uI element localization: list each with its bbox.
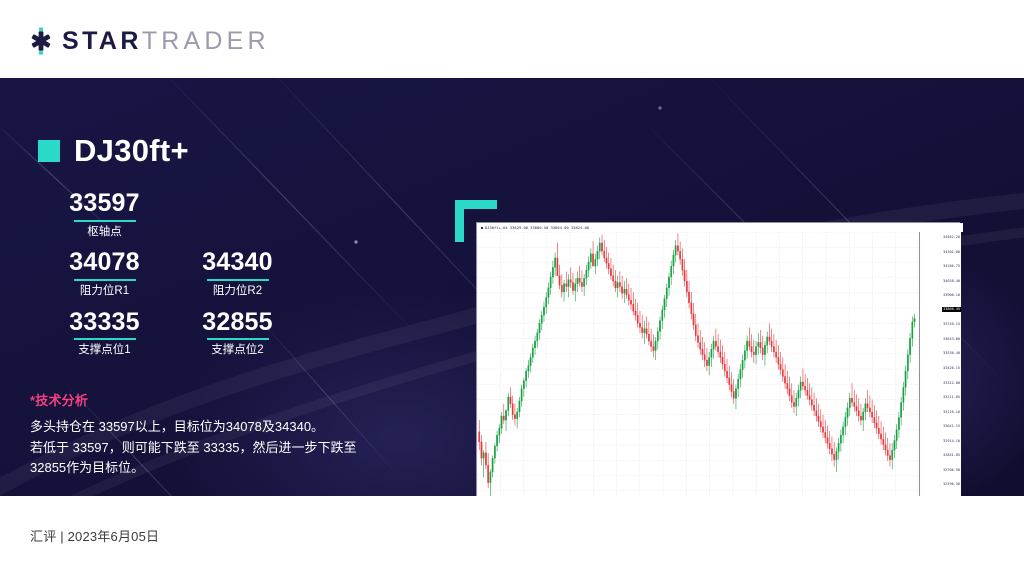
price-chart[interactable]: DJ30ft+,H4 33829.00 33880.50 33804.00 33… [476,222,960,496]
price-tick-label: 33643.80 [943,338,960,342]
analysis-line-3: 32855作为目标位。 [30,458,400,479]
price-tick-label: 33906.10 [943,294,960,298]
chart-price-axis[interactable]: 34462.2034302.0034166.7534038.4033906.10… [919,232,961,496]
analysis-heading: *技术分析 [30,390,400,409]
level-divider [74,338,136,340]
level-resistance-1: 34078 阻力位R1 [38,249,171,298]
analysis-line-2: 若低于 33597，则可能下跌至 33335，然后进一步下跌至 [30,438,400,459]
price-tick-label: 33746.15 [943,323,960,327]
price-tick-label: 34166.75 [943,265,960,269]
technical-analysis-block: *技术分析 多头持仓在 33597以上，目标位为34078及34340。 若低于… [30,390,400,479]
price-tick-label: 32841.85 [943,454,960,458]
level-divider [74,220,136,222]
level-support-1-label: 支撑点位1 [38,344,171,358]
level-support-1: 33335 支撑点位1 [38,309,171,358]
price-tick-label: 34302.00 [943,251,960,255]
level-resistance-1-label: 阻力位R1 [38,285,171,299]
price-tick-label: 33041.15 [943,425,960,429]
analysis-line-1: 多头持仓在 33597以上，目标位为34078及34340。 [30,417,400,438]
price-tick-label: 33536.40 [943,352,960,356]
analysis-body: 多头持仓在 33597以上，目标位为34078及34340。 若低于 33597… [30,417,400,479]
current-price-tag: 33866.45 [942,307,961,312]
level-pivot: 33597 枢轴点 [38,190,171,239]
header-bar: STARTRADER [0,0,1024,78]
level-resistance-1-value: 34078 [38,249,171,276]
price-tick-label: 33312.80 [943,382,960,386]
level-pivot-label: 枢轴点 [38,226,171,240]
level-divider [74,279,136,281]
price-tick-label: 34038.40 [943,280,960,284]
chart-header-quote: DJ30ft+,H4 33829.00 33880.50 33804.00 33… [477,223,963,232]
chart-header-text: DJ30ft+,H4 33829.00 33880.50 33804.00 33… [485,226,589,230]
slide-root: STARTRADER [0,0,1024,576]
instrument-symbol: DJ30ft+ [74,135,189,166]
footer-bar: 汇评 | 2023年6月05日 [0,496,1024,576]
level-pivot-value: 33597 [38,190,171,217]
instrument-title-row: DJ30ft+ [38,135,189,166]
levels-grid: 33597 枢轴点 34078 阻力位R1 34340 阻力位R2 [38,190,338,368]
chart-plot-area [477,232,919,496]
chart-header-bullet-icon [481,227,483,229]
price-tick-label: 33426.15 [943,367,960,371]
square-marker-icon [38,140,60,162]
price-tick-label: 33211.85 [943,396,960,400]
price-tick-label: 32596.30 [943,483,960,487]
price-tick-label: 33126.10 [943,411,960,415]
price-tick-label: 32914.10 [943,440,960,444]
level-support-1-value: 33335 [38,309,171,336]
level-resistance-2: 34340 阻力位R2 [171,249,304,298]
levels-row-resistance: 34078 阻力位R1 34340 阻力位R2 [38,249,338,308]
level-support-2: 32855 支撑点位2 [171,309,304,358]
brand-name-secondary: TRADER [142,27,270,55]
level-support-2-label: 支撑点位2 [171,344,304,358]
level-support-2-value: 32855 [171,309,304,336]
brand-logo: STARTRADER [26,27,270,55]
price-tick-label: 32706.90 [943,469,960,473]
candlestick-series [477,232,919,496]
main-dark-panel: DJ30ft+ 33597 枢轴点 34078 阻力位R1 34340 [0,78,1024,496]
price-tick-label: 34462.20 [943,236,960,240]
levels-row-pivot: 33597 枢轴点 [38,190,338,249]
brand-wordmark: STARTRADER [62,29,270,54]
level-resistance-2-label: 阻力位R2 [171,285,304,299]
levels-row-support: 33335 支撑点位1 32855 支撑点位2 [38,309,338,368]
level-resistance-2-value: 34340 [171,249,304,276]
brand-name-primary: STAR [62,27,142,55]
star-asterisk-icon [26,26,56,56]
footer-caption: 汇评 | 2023年6月05日 [30,526,159,545]
level-divider [207,338,269,340]
level-divider [207,279,269,281]
